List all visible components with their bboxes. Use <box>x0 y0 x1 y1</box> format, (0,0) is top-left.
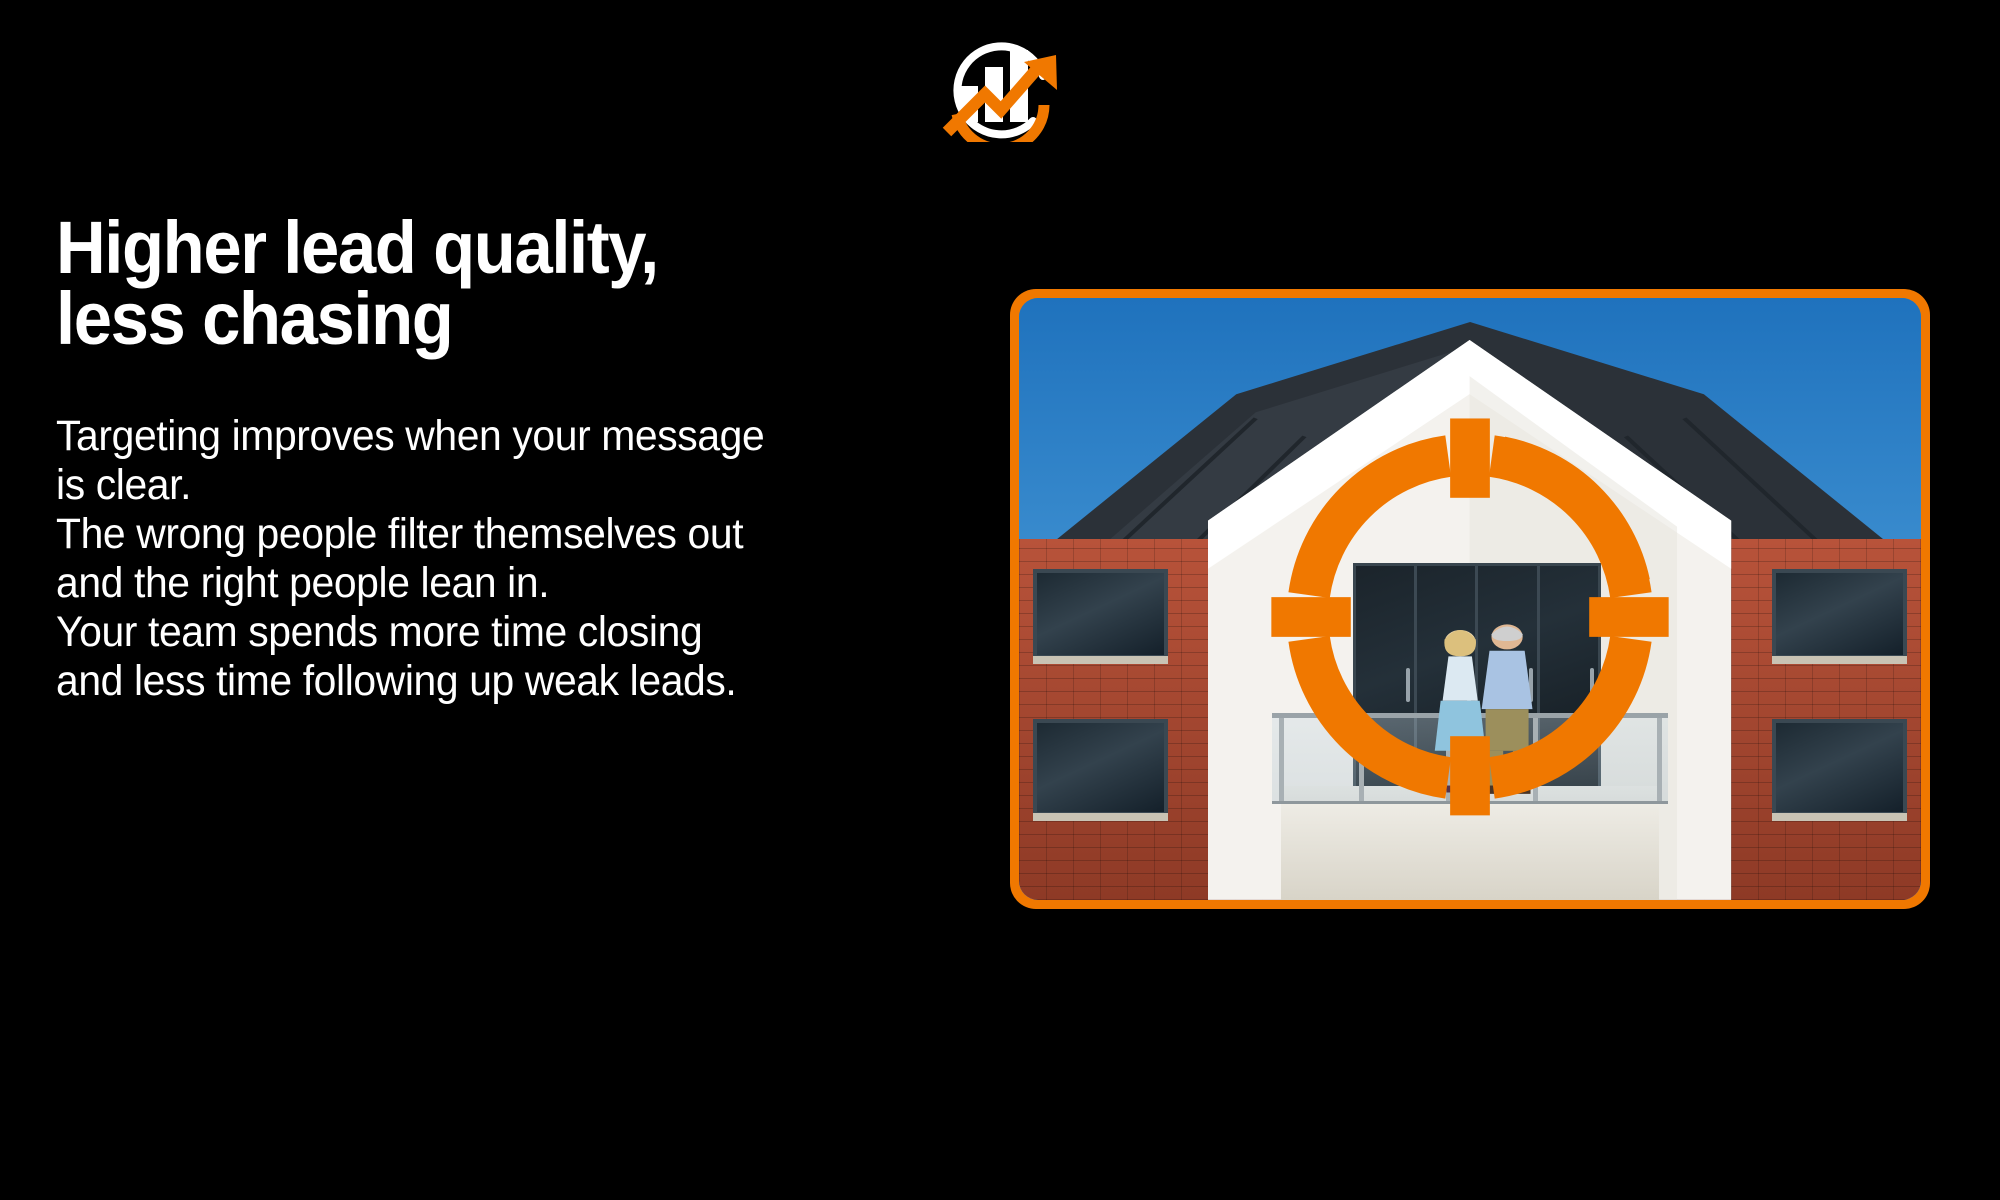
house-photo <box>1019 298 1921 900</box>
body-line: is clear. <box>56 461 740 510</box>
growth-chart-logo <box>931 22 1069 142</box>
body-line: and less time following up weak leads. <box>56 657 740 706</box>
body-line: Targeting improves when your message <box>56 412 740 461</box>
window <box>1772 569 1907 659</box>
window-sill <box>1772 813 1907 821</box>
couple-figure <box>1425 623 1542 804</box>
photo-panel <box>1010 289 1930 909</box>
balustrade-post <box>1359 718 1364 800</box>
window <box>1033 569 1168 659</box>
window-sill <box>1033 656 1168 664</box>
balustrade-post <box>1657 718 1662 800</box>
window-sill <box>1033 813 1168 821</box>
body-line: The wrong people filter themselves out <box>56 510 740 559</box>
body-paragraph: Targeting improves when your message is … <box>56 412 740 706</box>
balustrade-post <box>1279 718 1284 800</box>
logo-icon <box>931 22 1069 142</box>
body-line: and the right people lean in. <box>56 559 740 608</box>
body-line: Your team spends more time closing <box>56 608 740 657</box>
window <box>1033 719 1168 815</box>
window-sill <box>1772 656 1907 664</box>
couple-illustration <box>1425 623 1542 804</box>
page-title: Higher lead quality, less chasing <box>56 212 726 354</box>
window <box>1772 719 1907 815</box>
text-column: Higher lead quality, less chasing Target… <box>56 212 776 706</box>
